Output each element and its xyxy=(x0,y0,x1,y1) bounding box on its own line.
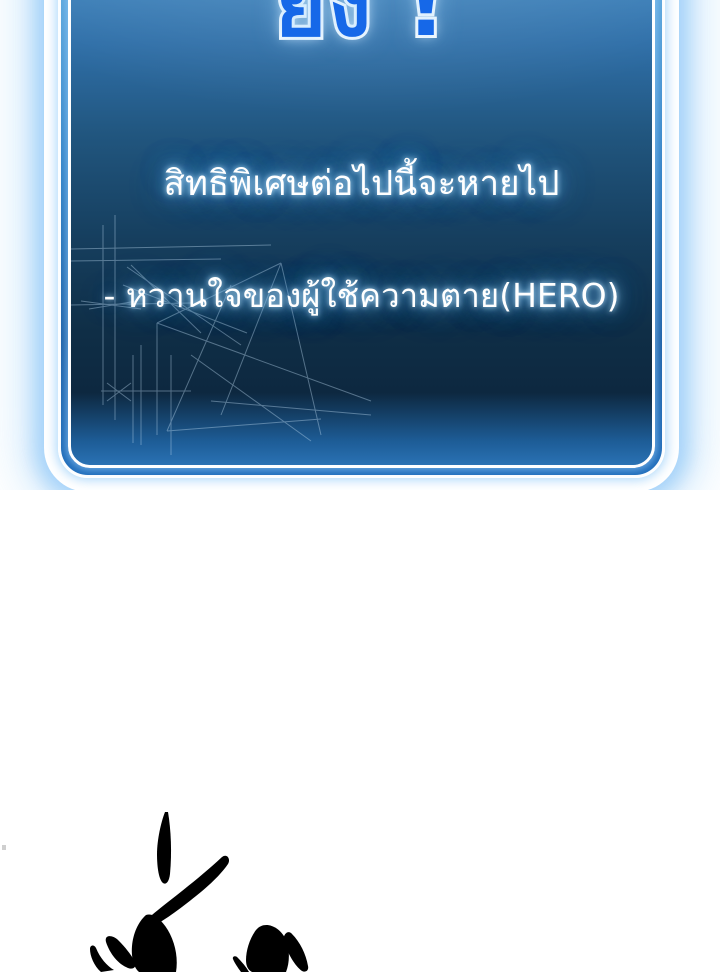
panel-surface: ยัง ! สิทธิพิเศษต่อไปนี้จะหายไป - หวานใจ… xyxy=(71,0,652,465)
panel-inner-rim: ยัง ! สิทธิพิเศษต่อไปนี้จะหายไป - หวานใจ… xyxy=(68,0,655,468)
panel-subline: สิทธิพิเศษต่อไปนี้จะหายไป xyxy=(164,163,560,207)
stray-speck xyxy=(2,845,6,850)
panel-item-line: - หวานใจของผู้ใช้ความตาย(HERO) xyxy=(103,275,619,316)
panel-headline: ยัง ! xyxy=(275,0,448,51)
system-notification-panel: ยัง ! สิทธิพิเศษต่อไปนี้จะหายไป - หวานใจ… xyxy=(58,0,665,478)
page-canvas: ยัง ! สิทธิพิเศษต่อไปนี้จะหายไป - หวานใจ… xyxy=(0,0,720,972)
white-gutter xyxy=(0,490,720,850)
panel-text-block: ยัง ! สิทธิพิเศษต่อไปนี้จะหายไป - หวานใจ… xyxy=(71,0,652,465)
